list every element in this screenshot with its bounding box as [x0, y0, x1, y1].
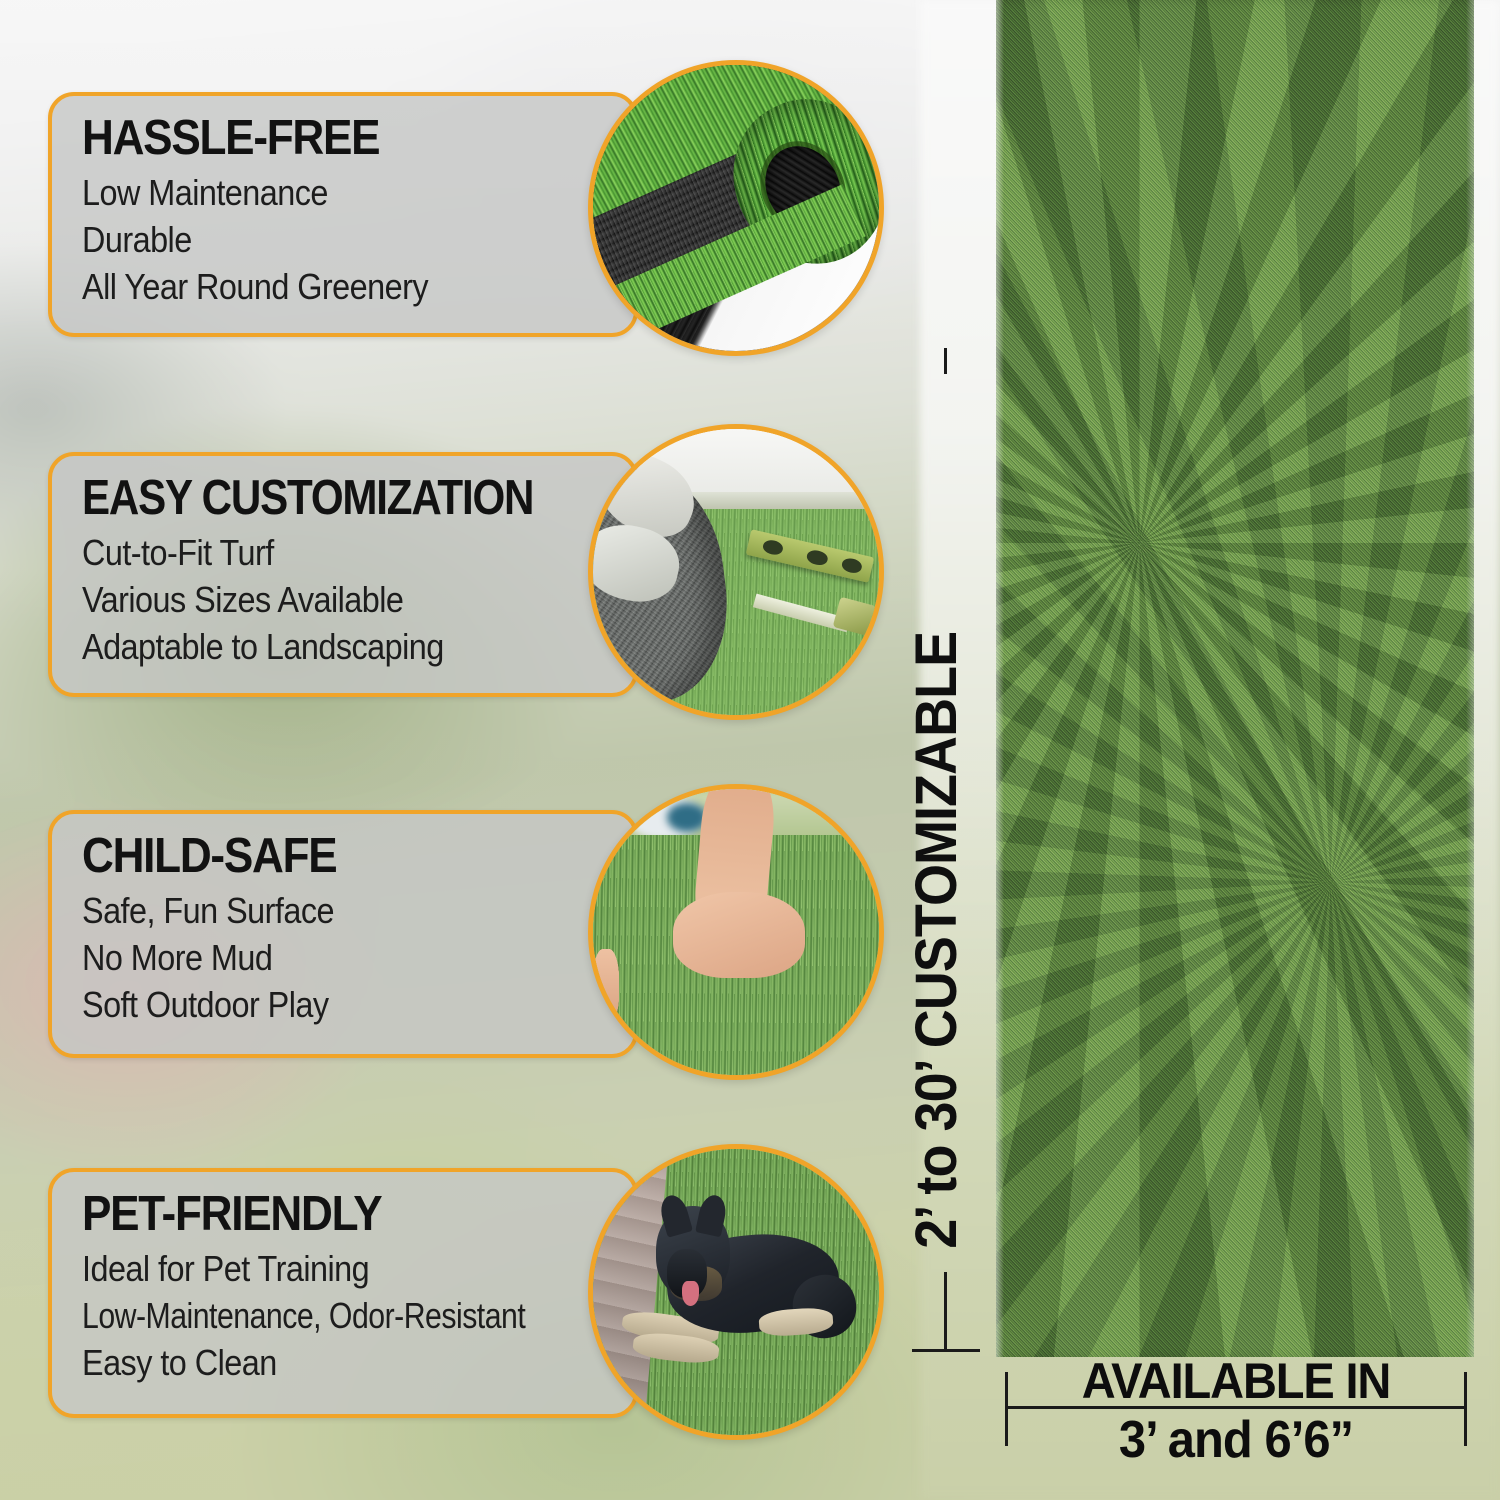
feature-bullet: No More Mud — [82, 935, 554, 982]
feature-bullet: Soft Outdoor Play — [82, 982, 554, 1029]
length-measure-end-tick — [912, 1349, 980, 1352]
length-measure-line-bottom — [944, 1272, 947, 1350]
feature-bullet: Various Sizes Available — [82, 577, 554, 624]
dog-on-turf-image — [593, 1149, 879, 1435]
length-measurement-text: 2’ to 30’ CUSTOMIZABLE — [908, 632, 966, 1249]
feature-bullet: Durable — [82, 217, 554, 264]
feature-title: CHILD-SAFE — [82, 832, 554, 882]
feature-card-pet-friendly: PET-FRIENDLY Ideal for Pet Training Low-… — [48, 1168, 638, 1418]
feature-bullet: Low-Maintenance, Odor-Resistant — [82, 1293, 522, 1340]
feature-photo-child-hand — [588, 784, 884, 1080]
infographic-canvas: HASSLE-FREE Low Maintenance Durable All … — [0, 0, 1500, 1500]
feature-card-easy-customization: EASY CUSTOMIZATION Cut-to-Fit Turf Vario… — [48, 452, 638, 697]
child-palm — [673, 892, 805, 978]
feature-bullet: Easy to Clean — [82, 1340, 554, 1387]
feature-bullet: All Year Round Greenery — [82, 264, 554, 311]
available-sizes-text: 3’ and 6’6” — [1005, 1414, 1467, 1466]
artificial-turf-roll-product — [996, 0, 1474, 1357]
feature-card-child-safe: CHILD-SAFE Safe, Fun Surface No More Mud… — [48, 810, 638, 1058]
feature-bullet: Cut-to-Fit Turf — [82, 530, 554, 577]
feature-card-content: HASSLE-FREE Low Maintenance Durable All … — [52, 96, 634, 326]
feature-card-content: EASY CUSTOMIZATION Cut-to-Fit Turf Vario… — [52, 456, 634, 686]
length-measure-line-top — [944, 348, 947, 374]
feature-bullet: Adaptable to Landscaping — [82, 624, 554, 671]
length-measurement-label: 2’ to 30’ CUSTOMIZABLE — [908, 372, 966, 1272]
feature-bullet: Low Maintenance — [82, 170, 554, 217]
feature-photo-dog — [588, 1144, 884, 1440]
feature-bullet: Ideal for Pet Training — [82, 1246, 554, 1293]
feature-photo-rolled-turf — [588, 60, 884, 356]
turf-left-edge — [996, 0, 1004, 1357]
feature-bullet: Safe, Fun Surface — [82, 888, 554, 935]
feature-title: PET-FRIENDLY — [82, 1190, 554, 1240]
dog-tongue — [682, 1281, 699, 1307]
feature-card-content: CHILD-SAFE Safe, Fun Surface No More Mud… — [52, 814, 634, 1044]
turf-right-edge — [1466, 0, 1474, 1357]
turf-texture-overlay — [996, 0, 1474, 1357]
feature-title: HASSLE-FREE — [82, 114, 554, 164]
feature-title: EASY CUSTOMIZATION — [82, 474, 533, 524]
feature-card-hassle-free: HASSLE-FREE Low Maintenance Durable All … — [48, 92, 638, 337]
width-measurement-label: AVAILABLE IN 3’ and 6’6” — [990, 1356, 1482, 1466]
finger — [593, 949, 619, 1023]
rolled-turf-image — [593, 65, 879, 351]
feature-photo-installation — [588, 424, 884, 720]
available-in-text: AVAILABLE IN — [1005, 1356, 1467, 1406]
child-hand-image — [593, 789, 879, 1075]
feature-card-content: PET-FRIENDLY Ideal for Pet Training Low-… — [52, 1172, 634, 1402]
turf-installation-image — [593, 429, 879, 715]
